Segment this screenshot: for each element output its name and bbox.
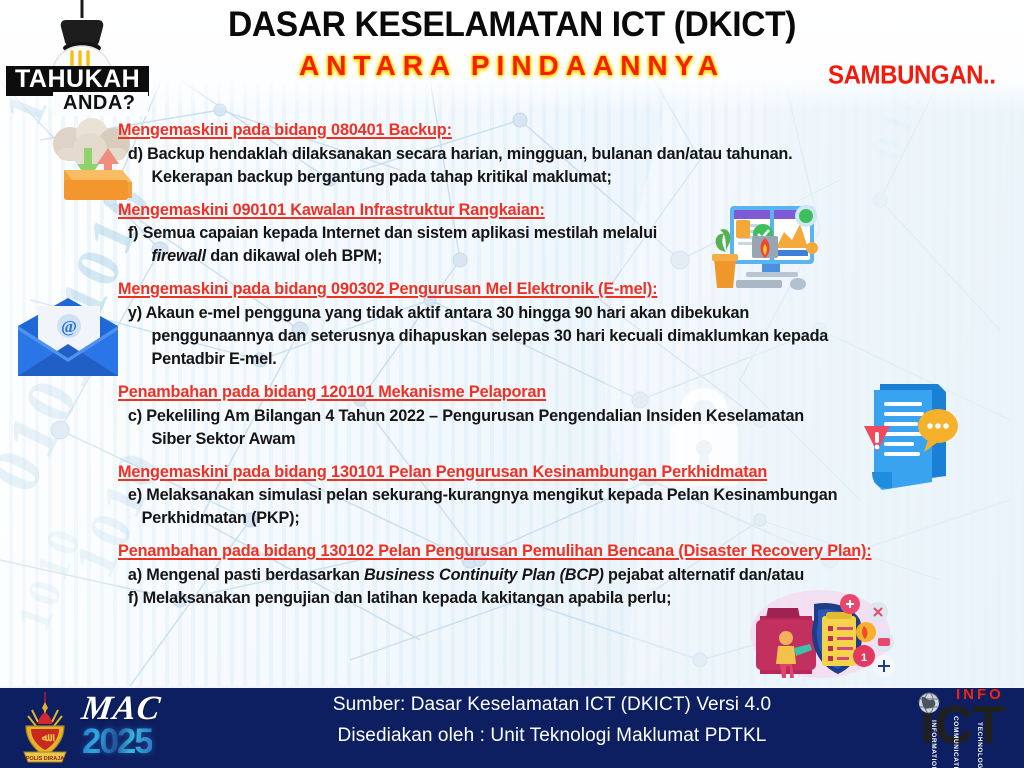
section-line: e) Melaksanakan simulasi pelan sekurang-… xyxy=(118,485,936,507)
slide-canvas: 1010 1010 0101 1010 1010 0101 xyxy=(0,0,1024,768)
section-heading: Penambahan pada bidang 120101 Mekanisme … xyxy=(118,382,936,404)
svg-text:@: @ xyxy=(61,317,77,336)
section-block: Mengemaskini pada bidang 130101 Pelan Pe… xyxy=(118,462,948,531)
section-line: d) Backup hendaklah dilaksanakan secara … xyxy=(118,144,936,166)
section-block: Mengemaskini pada bidang 090302 Pengurus… xyxy=(118,279,948,371)
email-envelope-icon: @ xyxy=(12,296,124,380)
footer-prepared-line: Disediakan oleh : Unit Teknologi Makluma… xyxy=(232,721,872,752)
section-line-post: pejabat alternatif dan/atau xyxy=(604,566,804,584)
continued-label: SAMBUNGAN.. xyxy=(828,61,996,91)
section-heading: Mengemaskini pada bidang 090302 Pengurus… xyxy=(118,279,936,301)
section-heading: Penambahan pada bidang 130102 Pelan Peng… xyxy=(118,541,936,563)
footer-credits: Sumber: Dasar Keselamatan ICT (DKICT) Ve… xyxy=(232,690,872,752)
section-line-pre: a) Mengenal pasti berdasarkan xyxy=(128,566,364,584)
did-you-know-text-2: ANDA? xyxy=(63,93,136,114)
globe-icon xyxy=(918,692,940,714)
ict-vertical-communication: COMMUNICATION xyxy=(952,716,959,768)
ict-vertical-technology: TECHNOLOGY xyxy=(976,722,983,768)
ict-vertical-information: INFORMATION xyxy=(930,720,937,768)
section-line: f) Semua capaian kepada Internet dan sis… xyxy=(118,223,936,245)
section-line: y) Akaun e-mel pengguna yang tidak aktif… xyxy=(118,303,936,325)
did-you-know-badge-line2: ANDA? xyxy=(53,92,148,116)
section-line: firewall dan dikawal oleh BPM; xyxy=(118,246,936,268)
section-line: Kekerapan backup bergantung pada tahap k… xyxy=(118,167,936,189)
section-line: Siber Sektor Awam xyxy=(118,429,936,451)
malaysia-police-crest-icon: ﷲ POLIS DIRAJA xyxy=(14,692,76,766)
section-block: Mengemaskini 090101 Kawalan Infrastruktu… xyxy=(118,200,948,269)
svg-text:1: 1 xyxy=(861,652,867,664)
section-line: Perkhidmatan (PKP); xyxy=(118,508,936,530)
section-line-rest: dan dikawal oleh BPM; xyxy=(206,247,382,265)
section-line: penggunaannya dan seterusnya dihapuskan … xyxy=(118,326,936,348)
section-heading: Mengemaskini pada bidang 130101 Pelan Pe… xyxy=(118,462,936,484)
italic-term: Business Continuity Plan (BCP) xyxy=(364,566,604,584)
section-heading: Mengemaskini 090101 Kawalan Infrastruktu… xyxy=(118,200,936,222)
section-line: f) Melaksanakan pengujian dan latihan ke… xyxy=(118,588,936,610)
section-line: c) Pekeliling Am Bilangan 4 Tahun 2022 –… xyxy=(118,406,936,428)
mac-year: 2025 xyxy=(82,722,152,762)
section-block: Mengemaskini pada bidang 080401 Backup: … xyxy=(118,120,948,189)
section-block: Penambahan pada bidang 120101 Mekanisme … xyxy=(118,382,948,451)
page-title: DASAR KESELAMATAN ICT (DKICT) xyxy=(20,5,1003,45)
footer-source-line: Sumber: Dasar Keselamatan ICT (DKICT) Ve… xyxy=(232,690,872,721)
ict-info-label: INFO xyxy=(956,686,1004,703)
section-heading: Mengemaskini pada bidang 080401 Backup: xyxy=(118,120,936,142)
content-body: Mengemaskini pada bidang 080401 Backup: … xyxy=(118,120,948,621)
svg-text:POLIS DIRAJA: POLIS DIRAJA xyxy=(26,756,65,762)
section-line: a) Mengenal pasti berdasarkan Business C… xyxy=(118,565,936,587)
section-block: Penambahan pada bidang 130102 Pelan Peng… xyxy=(118,541,948,610)
italic-term: firewall xyxy=(151,247,205,265)
section-line: Pentadbir E-mel. xyxy=(118,349,936,371)
